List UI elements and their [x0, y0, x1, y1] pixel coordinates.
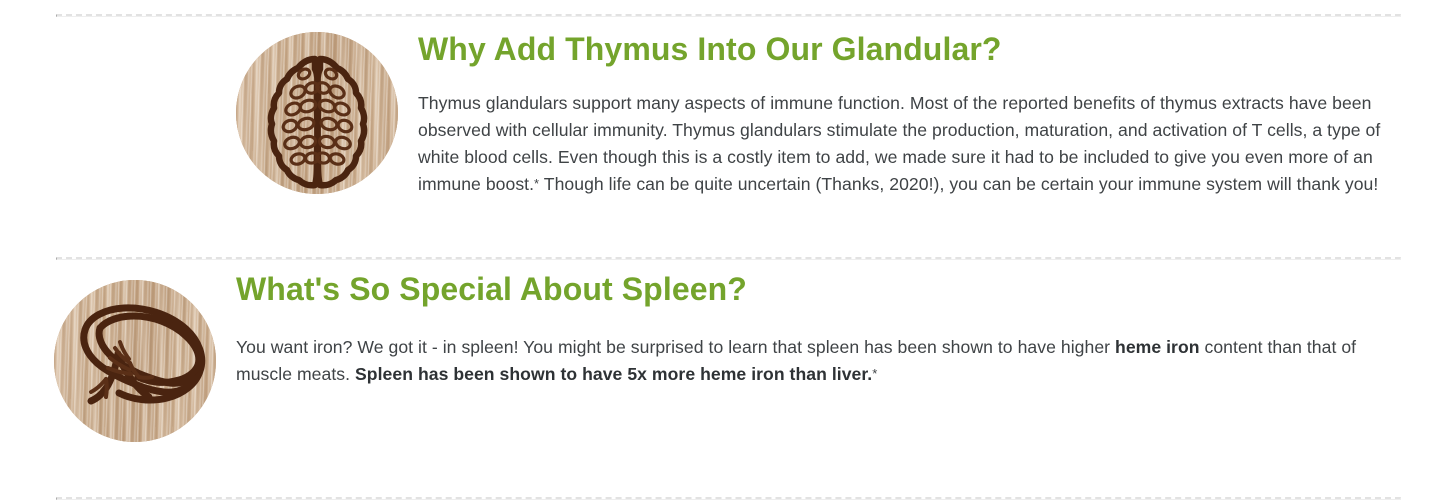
spleen-bold-claim: Spleen has been shown to have 5x more he…	[355, 364, 872, 384]
spleen-copy: What's So Special About Spleen? You want…	[236, 272, 1406, 388]
thymus-copy: Why Add Thymus Into Our Glandular? Thymu…	[418, 32, 1408, 198]
article-page: Why Add Thymus Into Our Glandular? Thymu…	[0, 0, 1445, 495]
spleen-glyph	[54, 280, 216, 442]
thymus-glyph	[236, 32, 398, 194]
section-spleen: What's So Special About Spleen? You want…	[54, 272, 1406, 442]
spleen-footnote-marker: *	[872, 366, 877, 381]
spleen-bold-heme-iron: heme iron	[1115, 337, 1200, 357]
spleen-paragraph: You want iron? We got it - in spleen! Yo…	[236, 334, 1406, 388]
spleen-illustration	[54, 280, 216, 442]
divider-top	[56, 14, 1401, 17]
thymus-heading: Why Add Thymus Into Our Glandular?	[418, 32, 1408, 68]
thymus-gland-illustration	[236, 32, 398, 194]
spleen-heading: What's So Special About Spleen?	[236, 272, 1406, 308]
spleen-paragraph-part1: You want iron? We got it - in spleen! Yo…	[236, 337, 1115, 357]
section-thymus: Why Add Thymus Into Our Glandular? Thymu…	[236, 32, 1408, 198]
divider-middle	[56, 257, 1401, 260]
thymus-paragraph-part2: Though life can be quite uncertain (Than…	[539, 174, 1378, 194]
thymus-paragraph: Thymus glandulars support many aspects o…	[418, 90, 1408, 198]
